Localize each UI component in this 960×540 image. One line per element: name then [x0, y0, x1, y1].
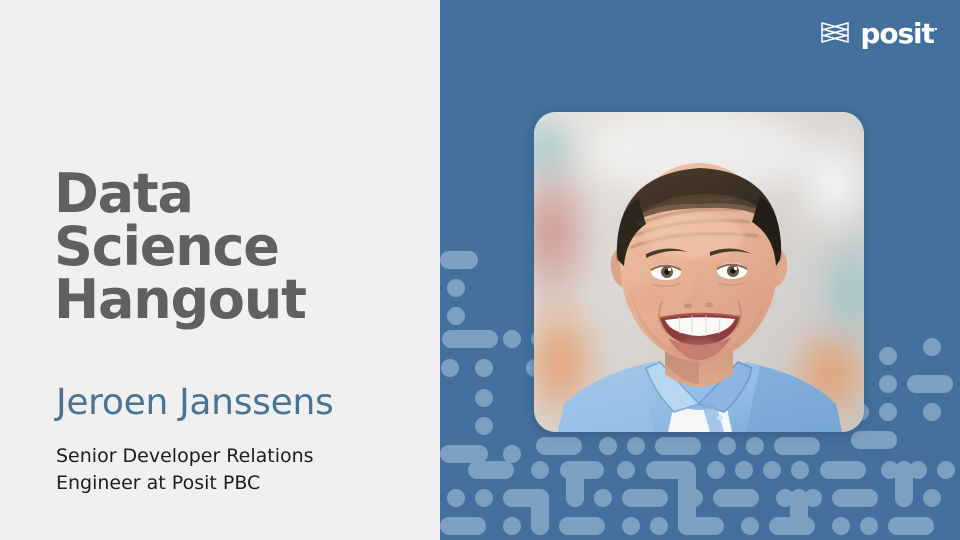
posit-wordmark: posit·: [860, 20, 938, 48]
speaker-photo-image: [534, 112, 864, 432]
speaker-role: Senior Developer Relations Engineer at P…: [56, 443, 396, 497]
title-block: Data Science Hangout: [54, 168, 434, 327]
posit-wordmark-text: posit: [860, 17, 933, 50]
page-title: Data Science Hangout: [54, 168, 434, 327]
left-content-panel: Data Science Hangout Jeroen Janssens Sen…: [0, 0, 440, 540]
posit-bowtie-icon: [819, 19, 851, 47]
right-visual-panel: posit·: [440, 0, 960, 540]
posit-logo: posit·: [819, 16, 938, 50]
presentation-slide: Data Science Hangout Jeroen Janssens Sen…: [0, 0, 960, 540]
speaker-photo: [534, 112, 864, 432]
speaker-name: Jeroen Janssens: [56, 382, 333, 423]
posit-trademark: ·: [934, 23, 938, 36]
